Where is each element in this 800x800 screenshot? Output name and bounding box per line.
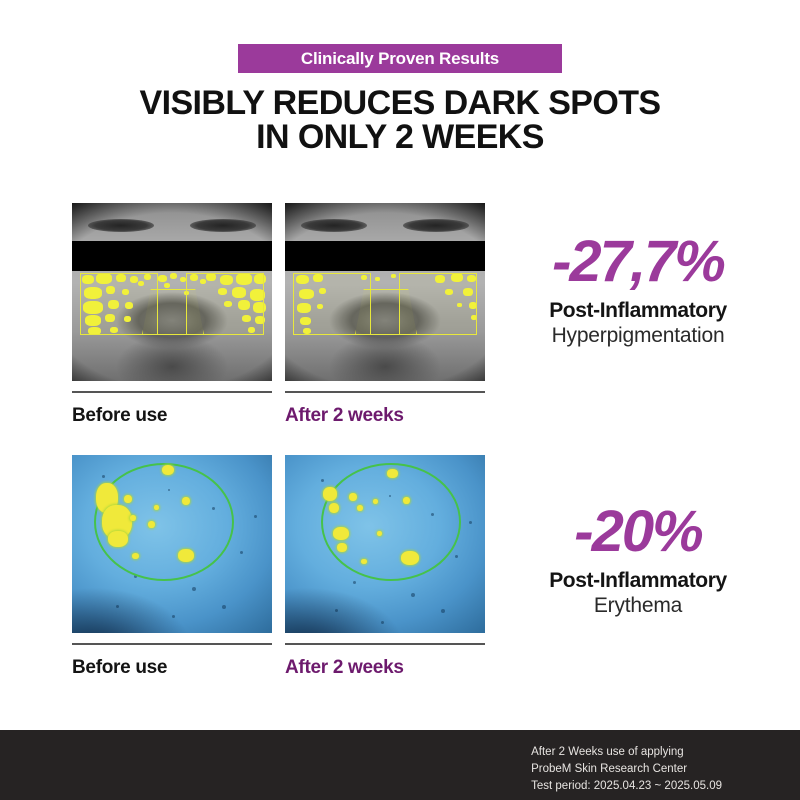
after-image-erythema [285,455,485,633]
analysis-zone-circle [321,463,461,581]
caption-after-erythema: After 2 weeks [285,643,485,679]
caption-before-erythema: Before use [72,643,272,679]
stat-erythema: -20% Post-Inflammatory Erythema [498,502,778,619]
stat-label-regular: Erythema [498,593,778,619]
stat-label-regular: Hyperpigmentation [498,323,778,349]
stat-value: -20% [498,502,778,562]
stat-value: -27,7% [498,232,778,292]
caption-divider [285,643,485,645]
before-image-hyperpigmentation [72,203,272,381]
caption-label: Before use [72,657,272,679]
badge-label: Clinically Proven Results [301,49,499,69]
footer-bar: After 2 Weeks use of applying ProbeM Ski… [0,730,800,800]
uv-edge-shadow [285,587,405,633]
image-pair-hyperpigmentation [72,203,485,381]
caption-divider [285,391,485,393]
caption-before-hyperpigmentation: Before use [72,391,272,427]
stat-label-bold: Post-Inflammatory [498,568,778,593]
caption-label: After 2 weeks [285,405,485,427]
uv-edge-shadow [72,587,192,633]
analysis-zone-nose [355,289,417,335]
footer-line-2: ProbeM Skin Research Center [531,761,722,778]
caption-divider [72,391,272,393]
caption-label: After 2 weeks [285,657,485,679]
caption-label: Before use [72,405,272,427]
page-title-line-1: VISIBLY REDUCES DARK SPOTS [0,86,800,120]
before-image-erythema [72,455,272,633]
caption-divider [72,643,272,645]
analysis-zone-nose [142,289,204,335]
image-pair-erythema [72,455,485,633]
after-image-hyperpigmentation [285,203,485,381]
clinically-proven-badge: Clinically Proven Results [238,44,562,73]
page-title: VISIBLY REDUCES DARK SPOTS IN ONLY 2 WEE… [0,86,800,154]
stat-hyperpigmentation: -27,7% Post-Inflammatory Hyperpigmentati… [498,232,778,349]
footer-line-1: After 2 Weeks use of applying [531,744,722,761]
page-title-line-2: IN ONLY 2 WEEKS [0,120,800,154]
caption-after-hyperpigmentation: After 2 weeks [285,391,485,427]
footer-disclaimer: After 2 Weeks use of applying ProbeM Ski… [531,744,722,795]
stat-label-bold: Post-Inflammatory [498,298,778,323]
footer-line-3: Test period: 2025.04.23 ~ 2025.05.09 [531,778,722,795]
